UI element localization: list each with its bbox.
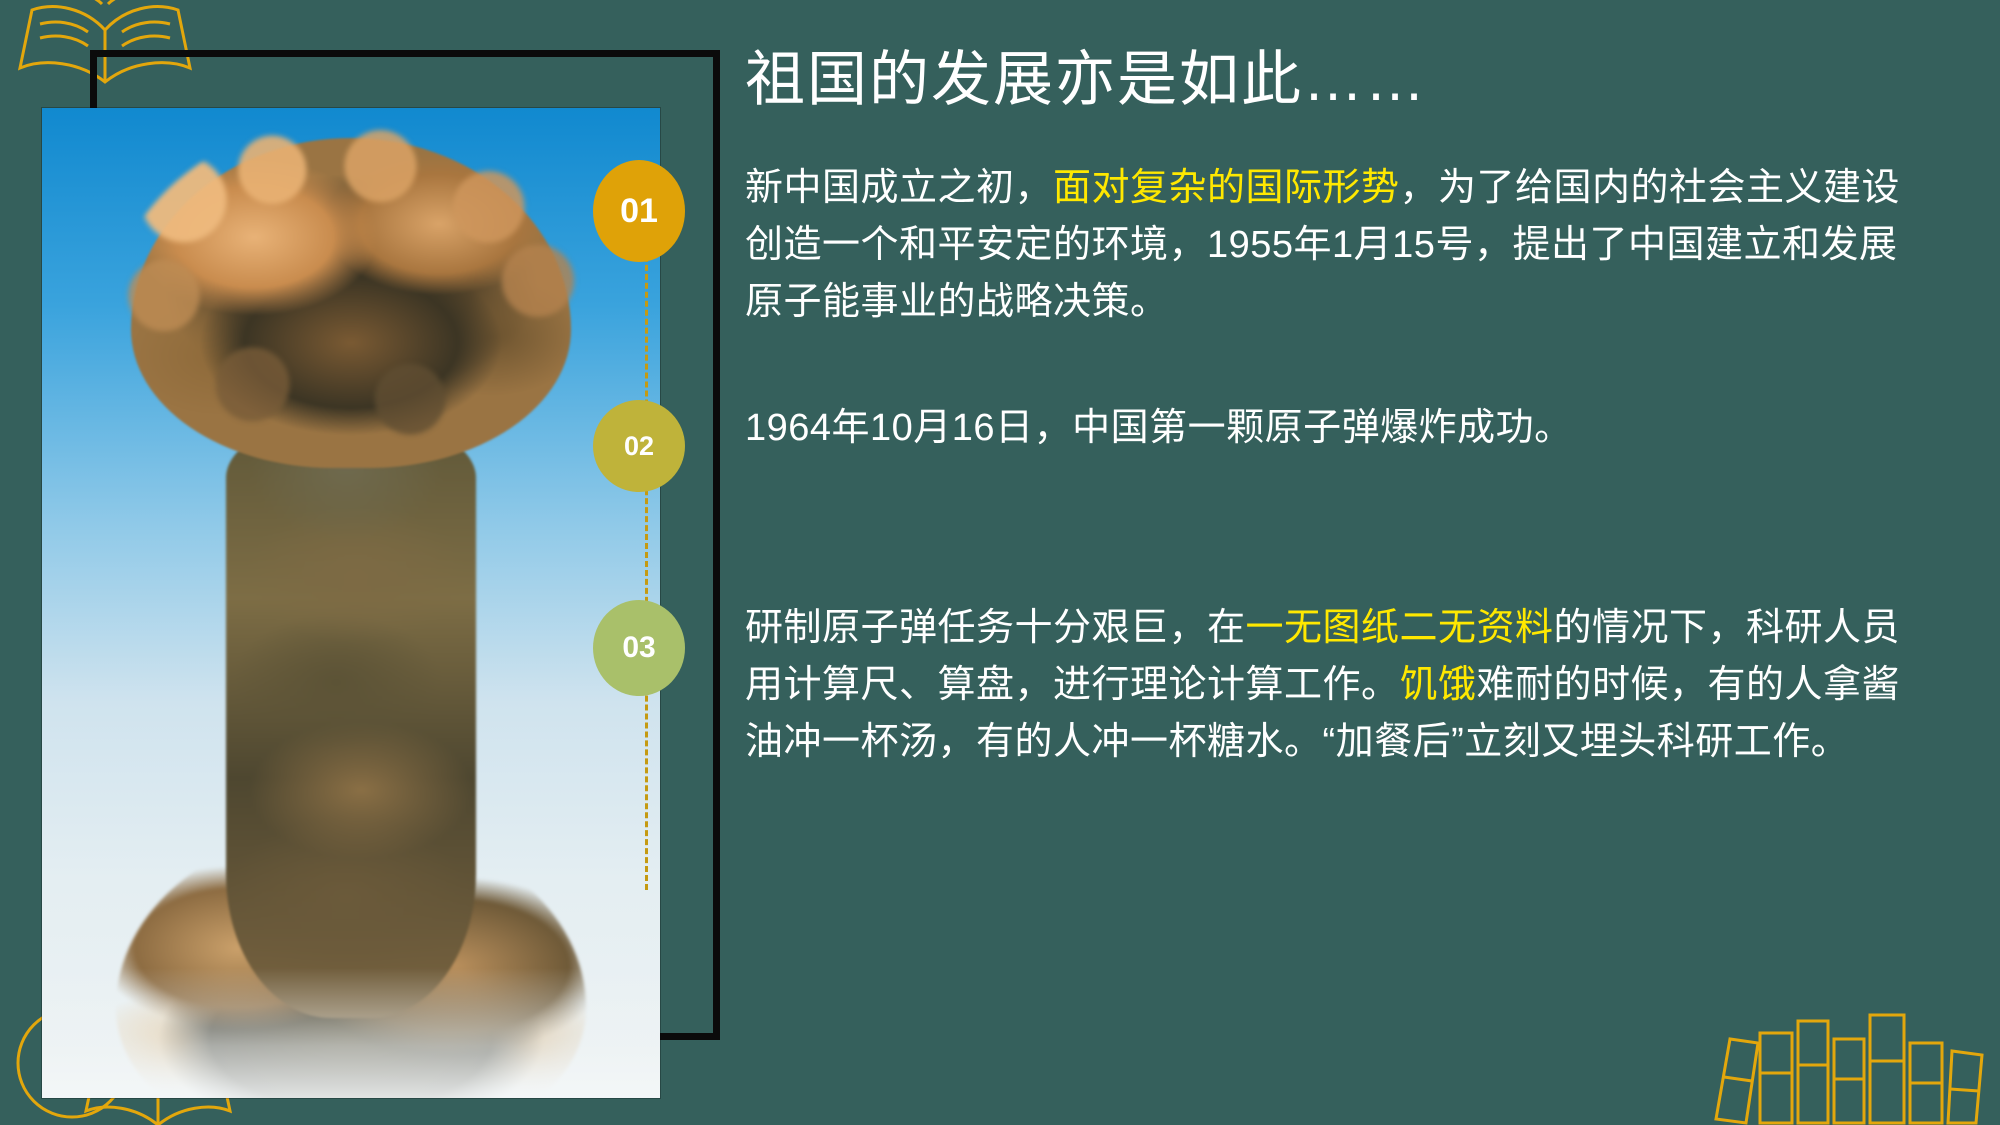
photo-cloud-stem: [226, 418, 476, 1018]
content-column: 祖国的发展亦是如此…… 01 新中国成立之初，面对复杂的国际形势，为了给国内的社…: [745, 0, 2000, 1125]
timeline-text-01-highlight: 面对复杂的国际形势: [1053, 167, 1400, 209]
timeline-text-02-seg-0: 1964年10月16日，中国第一颗原子弹爆炸成功。: [745, 407, 1573, 449]
timeline-text-01-seg-0: 新中国成立之初，: [745, 167, 1053, 209]
timeline-connector-line: [645, 220, 648, 890]
timeline-badge-03-label: 03: [622, 631, 655, 665]
nuclear-mushroom-cloud-photo: [42, 108, 660, 1098]
page-title: 祖国的发展亦是如此……: [745, 44, 1427, 116]
timeline-badge-01-label: 01: [620, 192, 658, 231]
slide-canvas: 祖国的发展亦是如此…… 01 新中国成立之初，面对复杂的国际形势，为了给国内的社…: [0, 0, 2000, 1125]
timeline-item-03[interactable]: 03 研制原子弹任务十分艰巨，在一无图纸二无资料的情况下，科研人员用计算尺、算盘…: [745, 600, 1925, 771]
timeline-badge-03[interactable]: 03: [593, 600, 685, 696]
timeline-text-02: 1964年10月16日，中国第一颗原子弹爆炸成功。: [745, 400, 1573, 457]
timeline-text-03: 研制原子弹任务十分艰巨，在一无图纸二无资料的情况下，科研人员用计算尺、算盘，进行…: [745, 600, 1925, 771]
timeline-badge-01[interactable]: 01: [593, 160, 685, 262]
photo-container: [42, 40, 682, 1070]
timeline-item-02[interactable]: 02 1964年10月16日，中国第一颗原子弹爆炸成功。: [745, 400, 1573, 457]
photo-ground-haze: [42, 968, 660, 1098]
timeline-badge-02[interactable]: 02: [593, 400, 685, 492]
timeline-text-01: 新中国成立之初，面对复杂的国际形势，为了给国内的社会主义建设创造一个和平安定的环…: [745, 160, 1925, 331]
timeline-text-03-highlight-1: 一无图纸二无资料: [1246, 607, 1554, 649]
photo-cloud-cap: [131, 138, 571, 468]
timeline-text-03-seg-0: 研制原子弹任务十分艰巨，在: [745, 607, 1246, 649]
timeline-badge-02-label: 02: [624, 431, 654, 462]
timeline-text-03-highlight-2: 饥饿: [1400, 664, 1477, 706]
timeline-item-01[interactable]: 01 新中国成立之初，面对复杂的国际形势，为了给国内的社会主义建设创造一个和平安…: [745, 160, 1925, 331]
